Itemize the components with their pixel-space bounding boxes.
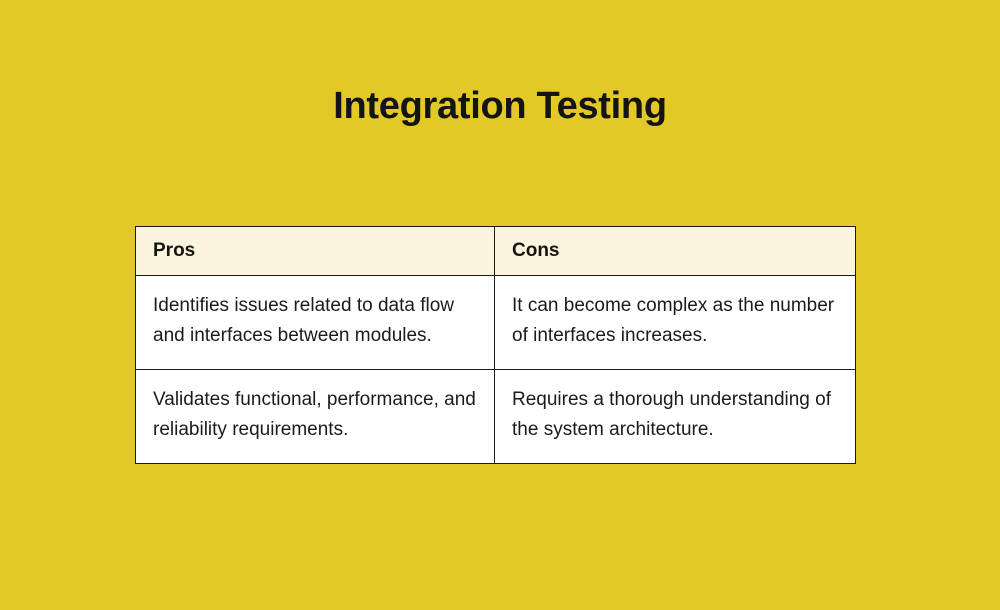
cell-text: Identifies issues related to data flow a…: [153, 291, 477, 351]
table-body: Identifies issues related to data flow a…: [136, 276, 856, 464]
pros-cons-table: Pros Cons Identifies issues related to d…: [135, 226, 856, 464]
table-row: Identifies issues related to data flow a…: [136, 276, 856, 370]
cell-pros-1: Identifies issues related to data flow a…: [136, 276, 495, 370]
table-header: Pros Cons: [136, 227, 856, 276]
table-header-row: Pros Cons: [136, 227, 856, 276]
cell-text: Validates functional, performance, and r…: [153, 385, 477, 445]
cell-text: Requires a thorough understanding of the…: [512, 385, 838, 445]
cell-cons-2: Requires a thorough understanding of the…: [495, 370, 856, 464]
page-title: Integration Testing: [0, 82, 1000, 130]
cell-text: It can become complex as the number of i…: [512, 291, 838, 351]
cell-cons-1: It can become complex as the number of i…: [495, 276, 856, 370]
cell-pros-2: Validates functional, performance, and r…: [136, 370, 495, 464]
column-header-pros: Pros: [136, 227, 495, 276]
table-row: Validates functional, performance, and r…: [136, 370, 856, 464]
column-header-cons: Cons: [495, 227, 856, 276]
slide-canvas: Integration Testing Pros Cons Identifies…: [0, 0, 1000, 610]
